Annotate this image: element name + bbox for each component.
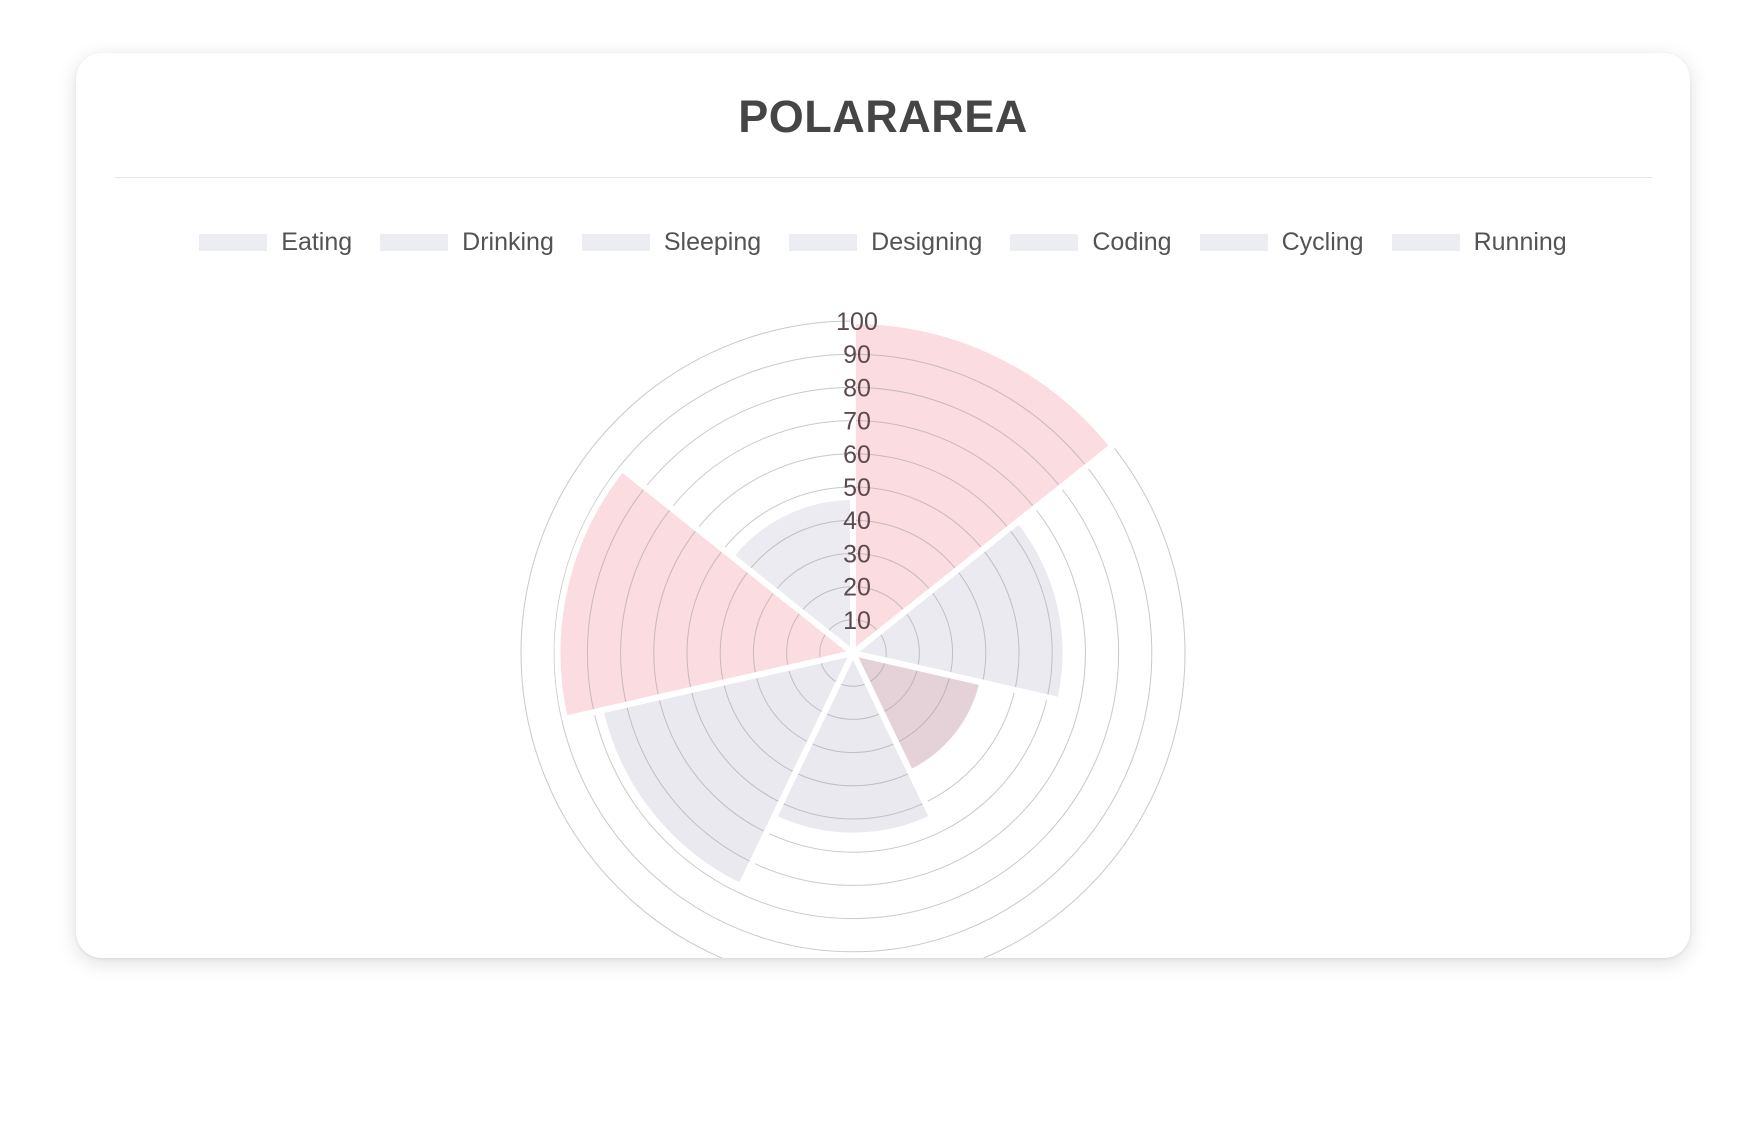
polar-area-plot: 102030405060708090100 bbox=[76, 203, 1690, 958]
radial-tick-label: 10 bbox=[843, 607, 871, 635]
chart-card: POLARAREA EatingDrinkingSleepingDesignin… bbox=[76, 53, 1690, 958]
radial-tick-label: 80 bbox=[843, 374, 871, 402]
radial-tick-label: 70 bbox=[843, 408, 871, 436]
polar-area-svg: 102030405060708090100 bbox=[76, 203, 1690, 958]
radial-tick-label: 100 bbox=[836, 308, 878, 336]
radial-tick-label: 40 bbox=[843, 507, 871, 535]
radial-tick-label: 30 bbox=[843, 540, 871, 568]
radial-tick-label: 60 bbox=[843, 441, 871, 469]
radial-tick-label: 50 bbox=[843, 474, 871, 502]
title-divider bbox=[114, 177, 1652, 178]
page-title: POLARAREA bbox=[76, 89, 1690, 145]
screenshot-root: POLARAREA EatingDrinkingSleepingDesignin… bbox=[0, 0, 1763, 1146]
radial-tick-label: 90 bbox=[843, 341, 871, 369]
radial-tick-label: 20 bbox=[843, 574, 871, 602]
